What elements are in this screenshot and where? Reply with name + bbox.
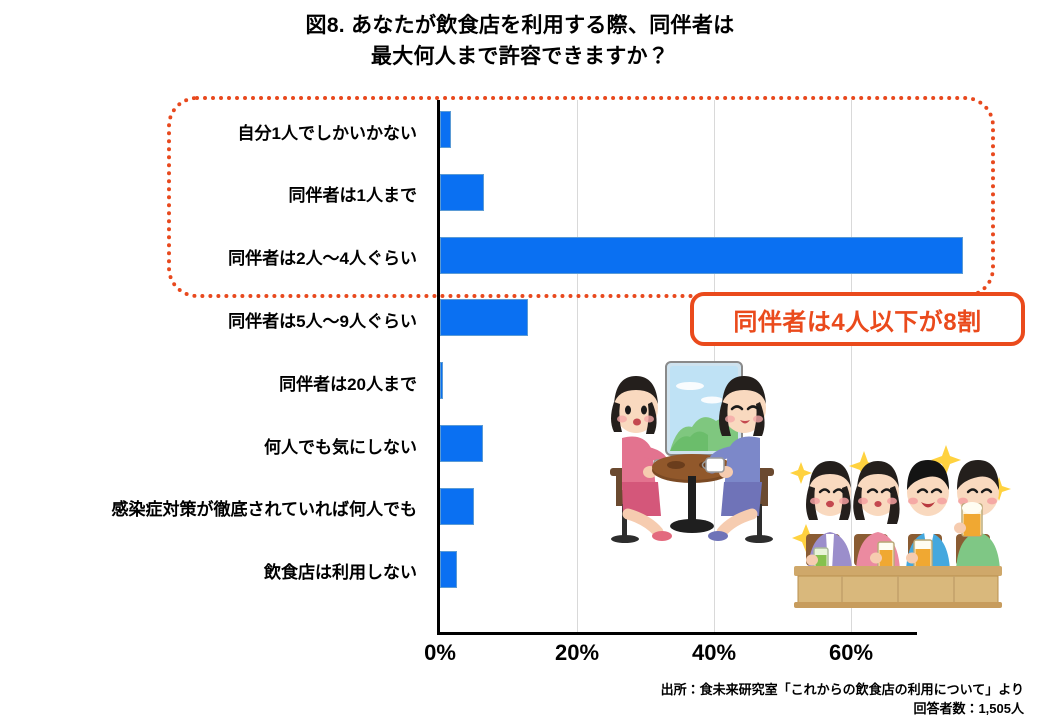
category-axis-labels: 自分1人でしかいかない同伴者は1人まで同伴者は2人〜4人ぐらい同伴者は5人〜9人… <box>0 0 425 720</box>
gridline-20 <box>577 100 578 635</box>
illustration-four-people-drinking <box>784 442 1012 610</box>
bar-1 <box>440 111 451 148</box>
tick-label-20pct: 20% <box>532 640 622 666</box>
category-label-2: 同伴者は1人まで <box>0 181 425 206</box>
bar-2 <box>440 174 484 211</box>
category-label-1: 自分1人でしかいかない <box>0 119 425 144</box>
callout-text: 同伴者は4人以下が8割 <box>733 302 981 337</box>
category-label-6: 何人でも気にしない <box>0 433 425 458</box>
category-label-4: 同伴者は5人〜9人ぐらい <box>0 307 425 332</box>
category-label-8: 飲食店は利用しない <box>0 558 425 583</box>
value-axis-line <box>437 100 440 635</box>
bar-3 <box>440 237 963 274</box>
bar-6 <box>440 425 483 462</box>
tick-label-0pct: 0% <box>395 640 485 666</box>
illustration-two-women-at-cafe <box>592 352 792 550</box>
category-label-5: 同伴者は20人まで <box>0 370 425 395</box>
callout-box: 同伴者は4人以下が8割 <box>690 292 1025 346</box>
category-label-3: 同伴者は2人〜4人ぐらい <box>0 244 425 269</box>
bar-8 <box>440 551 457 588</box>
category-label-7: 感染症対策が徹底されていれば何人でも <box>0 495 425 520</box>
chart-page: 図8. あなたが飲食店を利用する際、同伴者は 最大何人まで許容できますか？ 自分… <box>0 0 1040 720</box>
category-axis-line <box>437 632 917 635</box>
source-text: 出所：食未来研究室「これからの飲食店の利用について」より <box>661 680 1024 699</box>
bar-5 <box>440 362 443 399</box>
source-note: 出所：食未来研究室「これからの飲食店の利用について」より 回答者数：1,505人 <box>661 680 1024 718</box>
tick-label-40pct: 40% <box>669 640 759 666</box>
bar-7 <box>440 488 474 525</box>
respondents-text: 回答者数：1,505人 <box>661 699 1024 718</box>
tick-label-60pct: 60% <box>806 640 896 666</box>
bar-4 <box>440 299 528 336</box>
